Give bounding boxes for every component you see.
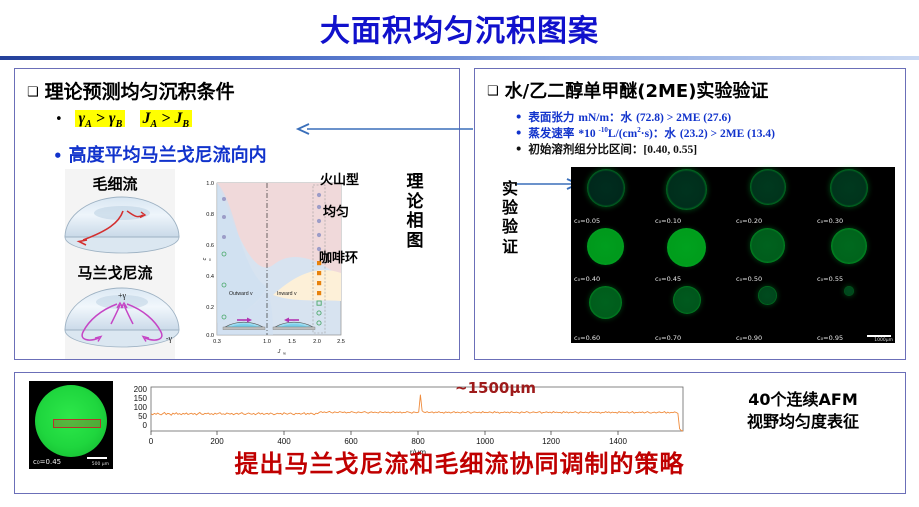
slide-root: 大面积均匀沉积图案 ❑理论预测均匀沉积条件 • γA > γB JA > JB … (0, 0, 919, 507)
svg-text:0.8: 0.8 (206, 212, 214, 218)
scalebar-icon (867, 335, 891, 337)
formula-gamma: γA > γB (75, 110, 125, 127)
length-annotation: ~1500µm (455, 379, 536, 397)
svg-text:+γ: +γ (118, 291, 127, 300)
svg-text:c: c (202, 257, 208, 260)
svg-text:Inward v: Inward v (277, 291, 297, 297)
experiment-panel: ❑水/乙二醇单甲醚(2ME)实验验证 •表面张力 mN/m：水 (72.8) >… (474, 68, 906, 360)
svg-text:2.5: 2.5 (337, 339, 345, 345)
experiment-heading-text: 水/乙二醇单甲醚(2ME)实验验证 (505, 81, 769, 102)
profile-data-line (151, 395, 683, 431)
formula-bullet-row: • γA > γB JA > JB (55, 109, 192, 130)
fluorescence-cell-caption: c₀=0.90 (736, 334, 762, 342)
svg-text:1.0: 1.0 (263, 339, 271, 345)
fluorescence-droplet (667, 228, 706, 267)
bullet-dot-icon: • (515, 142, 522, 156)
bullet-square-icon: ❑ (487, 84, 499, 99)
fluorescence-droplet (587, 228, 624, 265)
evaporation-rate-bullet: •蒸发速率 *10 -10L/(cm2·s)：水 (23.2) > 2ME (1… (515, 125, 775, 141)
svg-text:0: 0 (209, 258, 211, 262)
fluorescence-droplet (830, 169, 868, 207)
svg-text:1.5: 1.5 (288, 339, 296, 345)
bullet-dot-icon: • (55, 112, 63, 127)
theory-panel: ❑理论预测均匀沉积条件 • γA > γB JA > JB •高度平均马兰戈尼流… (14, 68, 460, 360)
bullet-dot-icon: • (515, 126, 522, 140)
fluorescence-cell: c₀=0.60 (571, 284, 652, 343)
theory-heading-text: 理论预测均匀沉积条件 (45, 81, 235, 103)
svg-text:re: re (283, 352, 286, 356)
fluorescence-cell: c₀=0.90 (733, 284, 814, 343)
fluorescence-cell-caption: c₀=0.30 (817, 217, 843, 225)
fluorescence-droplet (750, 169, 786, 205)
fluorescence-droplet (666, 169, 707, 210)
marangoni-flow-label: 马兰戈尼流 (45, 262, 185, 283)
fluorescence-cell: c₀=0.05 (571, 167, 652, 226)
fluorescence-cell-caption: c₀=0.60 (574, 334, 600, 342)
svg-text:-γ: -γ (166, 334, 173, 343)
theory-panel-heading: ❑理论预测均匀沉积条件 (27, 77, 235, 104)
fluorescence-cell: c₀=0.55 (814, 226, 895, 285)
fluorescence-grid: c₀=0.05c₀=0.10c₀=0.20c₀=0.30c₀=0.40c₀=0.… (571, 167, 895, 343)
surface-tension-bullet: •表面张力 mN/m：水 (72.8) > 2ME (27.6) (515, 109, 731, 125)
fluorescence-cell-caption: c₀=0.95 (817, 334, 843, 342)
fluorescence-droplet (589, 286, 622, 319)
fluorescence-cell-caption: c₀=0.50 (736, 275, 762, 283)
title-divider (0, 56, 919, 60)
scan-line-marker (53, 419, 101, 428)
fluorescence-cell-caption: c₀=0.20 (736, 217, 762, 225)
svg-text:J: J (277, 349, 281, 355)
fluorescence-cell: c₀=0.20 (733, 167, 814, 226)
formula-flux: JA > JB (140, 110, 192, 127)
fluorescence-cell-caption: c₀=0.40 (574, 275, 600, 283)
phase-region-coffeering-label: 咖啡环 (319, 247, 358, 266)
svg-text:0.4: 0.4 (206, 274, 214, 280)
marangoni-condition-text: 高度平均马兰戈尼流向内 (69, 145, 267, 166)
experiment-panel-heading: ❑水/乙二醇单甲醚(2ME)实验验证 (487, 77, 768, 103)
phase-region-uniform-label: 均匀 (323, 201, 349, 220)
fluorescence-cell-caption: c₀=0.70 (655, 334, 681, 342)
page-title: 大面积均匀沉积图案 (0, 6, 919, 50)
fluorescence-cell: c₀=0.50 (733, 226, 814, 285)
afm-note-line2: 视野均匀度表征 (705, 411, 901, 433)
fluorescence-droplet (750, 228, 785, 263)
marangoni-condition-bullet: •高度平均马兰戈尼流向内 (53, 141, 267, 167)
phase-region-volcano-label: 火山型 (320, 169, 359, 188)
conclusion-banner: 提出马兰戈尼流和毛细流协同调制的策略 (0, 444, 919, 479)
svg-text:1.0: 1.0 (206, 181, 214, 187)
svg-text:2.0: 2.0 (313, 339, 321, 345)
bullet-dot-icon: • (53, 147, 63, 165)
fluorescence-cell-caption: c₀=0.05 (574, 217, 600, 225)
fluorescence-droplet (831, 228, 867, 264)
capillary-flow-diagram (61, 193, 183, 255)
svg-text:50: 50 (138, 412, 147, 421)
svg-text:150: 150 (134, 394, 148, 403)
bullet-dot-icon: • (515, 110, 522, 124)
fluorescence-droplet (758, 286, 777, 305)
svg-text:0: 0 (143, 421, 148, 430)
theory-diagram-caption: 理论相图 (403, 173, 427, 251)
fluorescence-cell: c₀=0.40 (571, 226, 652, 285)
marangoni-flow-diagram: +γ -γ (61, 284, 183, 350)
fluorescence-droplet (587, 169, 625, 207)
svg-text:200: 200 (134, 385, 148, 394)
fluorescence-cell-caption: c₀=0.55 (817, 275, 843, 283)
fluorescence-droplet (673, 286, 701, 314)
bullet-square-icon: ❑ (27, 85, 39, 100)
solvent-ratio-bullet: •初始溶剂组分比区间：[0.40, 0.55] (515, 141, 697, 157)
fluorescence-cell: c₀=0.30 (814, 167, 895, 226)
afm-note: 40个连续AFM 视野均匀度表征 (705, 389, 901, 432)
svg-text:0.3: 0.3 (213, 339, 221, 345)
connector-arrow-icon (295, 122, 475, 136)
svg-text:100: 100 (134, 403, 148, 412)
fluorescence-cell-caption: c₀=0.10 (655, 217, 681, 225)
fluorescence-cell: c₀=0.10 (652, 167, 733, 226)
fluorescence-droplet (844, 286, 854, 296)
fluorescence-cell: c₀=0.70 (652, 284, 733, 343)
svg-text:0.6: 0.6 (206, 243, 214, 249)
svg-text:0.2: 0.2 (206, 305, 214, 311)
capillary-flow-label: 毛细流 (45, 173, 185, 194)
afm-note-line1: 40个连续AFM (705, 389, 901, 411)
scalebar-label: 1000µm (874, 338, 893, 343)
fluorescence-cell: c₀=0.45 (652, 226, 733, 285)
fluorescence-cell-caption: c₀=0.45 (655, 275, 681, 283)
svg-text:Outward v: Outward v (229, 291, 253, 297)
